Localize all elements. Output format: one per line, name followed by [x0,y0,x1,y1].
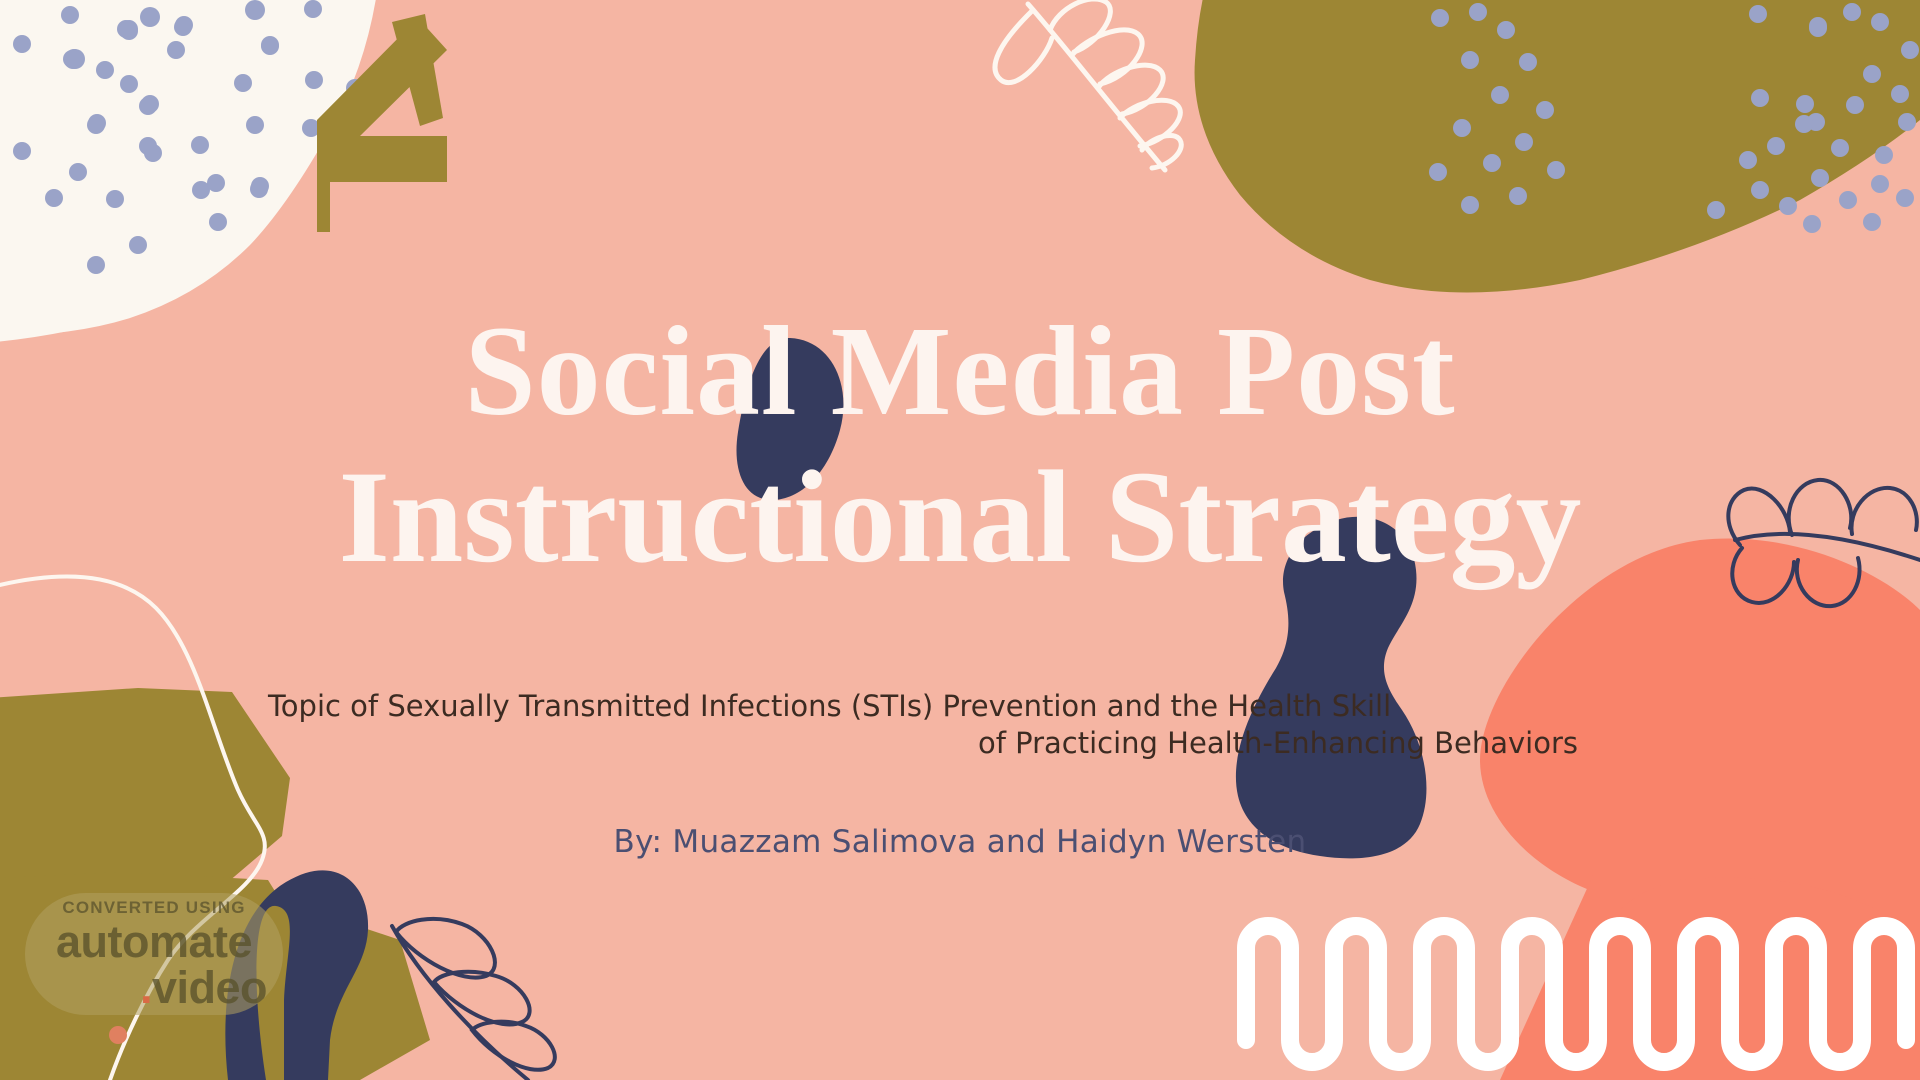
watermark-brand: automate [56,920,252,964]
subtitle-line-2: of Practicing Health-Enhancing Behaviors [268,725,1578,762]
presentation-slide: Social Media Post Instructional Strategy… [0,0,1920,1080]
watermark-top-label: CONVERTED USING [62,898,245,918]
slide-subtitle: Topic of Sexually Transmitted Infections… [268,688,1578,762]
watermark-tld-text: video [152,962,267,1013]
author-byline: By: Muazzam Salimova and Haidyn Wersten [0,824,1920,860]
slide-title: Social Media Post Instructional Strategy [0,300,1920,591]
title-line-2: Instructional Strategy [0,443,1920,591]
automate-video-watermark: CONVERTED USING automate .video [25,893,283,1015]
subtitle-line-1: Topic of Sexually Transmitted Infections… [268,688,1578,725]
watermark-dot: . [140,962,152,1013]
watermark-tld: .video [140,965,267,1010]
title-line-1: Social Media Post [0,300,1920,443]
slide-text-layer: Social Media Post Instructional Strategy… [0,0,1920,1080]
